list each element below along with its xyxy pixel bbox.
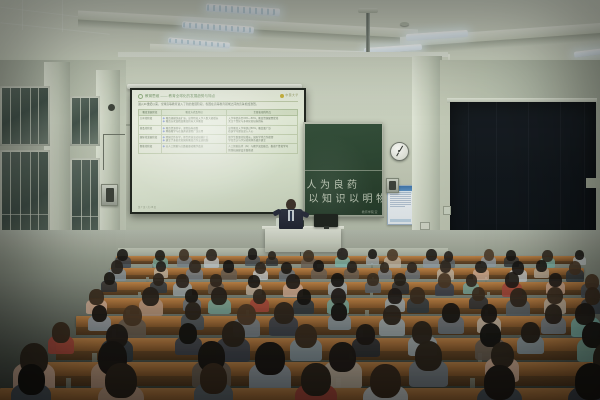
speaker-cone-icon bbox=[389, 181, 396, 190]
screen-glare bbox=[132, 90, 304, 212]
audience-member-head bbox=[18, 364, 46, 395]
smoke-detector-icon bbox=[400, 22, 409, 26]
audience-member-head bbox=[394, 273, 406, 287]
audience-member-head bbox=[223, 260, 234, 273]
chalk-dust bbox=[305, 124, 382, 217]
blackboard-surface: 人 为 良 药 以 知 识 以 明 物 教育学院 宣 bbox=[305, 124, 382, 217]
audience-member-head bbox=[547, 287, 563, 305]
audience-member-head bbox=[491, 342, 514, 368]
audience-member-head bbox=[189, 260, 201, 273]
audience-member-head bbox=[253, 289, 266, 304]
audience-member-head bbox=[521, 322, 540, 343]
audience-member-head bbox=[255, 342, 284, 375]
poster-text-line bbox=[390, 204, 411, 205]
audience-member-head bbox=[481, 304, 498, 323]
audience-member-head bbox=[569, 261, 581, 275]
audience-member-head bbox=[297, 289, 311, 305]
audience-member-head bbox=[89, 289, 103, 305]
audience-member-head bbox=[484, 249, 494, 261]
clock-hour-hand bbox=[396, 151, 399, 155]
projection-screen-surface: 教育思维 —— 教育全球化的发展趋势与特点 中 国 大 学 进入21世纪以来，全… bbox=[132, 90, 304, 212]
wall-outlet bbox=[420, 222, 430, 230]
audience-member-head bbox=[545, 304, 562, 324]
wall-upper-band bbox=[118, 52, 448, 57]
audience-member-head bbox=[438, 273, 451, 288]
audience-member-head bbox=[255, 262, 266, 274]
wall-clock bbox=[390, 142, 409, 161]
audience-member-head bbox=[337, 248, 348, 260]
blackout-curtain[interactable] bbox=[450, 102, 596, 250]
window bbox=[70, 96, 100, 146]
audience-member-head bbox=[510, 288, 527, 307]
audience-member-head bbox=[211, 287, 227, 305]
audience-member-head bbox=[104, 272, 115, 285]
audience-member-head bbox=[472, 287, 485, 302]
audience-member-head bbox=[185, 289, 198, 303]
audience-member-head bbox=[237, 304, 256, 325]
right-wall-outlet bbox=[443, 206, 451, 215]
audience-member-head bbox=[383, 305, 401, 325]
audience-member-head bbox=[142, 287, 159, 306]
audience-member-head bbox=[388, 288, 402, 304]
audience-member-head bbox=[505, 272, 519, 288]
wall-speaker bbox=[386, 178, 399, 193]
monitor-stand bbox=[324, 226, 329, 229]
poster-text-line bbox=[390, 196, 411, 197]
speaker-bracket bbox=[108, 104, 115, 111]
audience-member-head bbox=[303, 250, 314, 262]
audience-member-head bbox=[575, 363, 600, 399]
audience-member-head bbox=[281, 262, 292, 275]
wall-speaker bbox=[101, 184, 118, 206]
audience-member-head bbox=[156, 261, 166, 272]
ceiling-tile-seam bbox=[22, 0, 23, 30]
poster-text-line bbox=[390, 206, 405, 207]
audience-member-head bbox=[179, 249, 190, 261]
audience-member-head bbox=[111, 260, 123, 274]
bench-desk[interactable] bbox=[56, 338, 596, 351]
window bbox=[0, 86, 50, 146]
audience-member-head bbox=[313, 260, 324, 272]
audience-member-head bbox=[410, 287, 425, 304]
audience-member-head bbox=[506, 250, 516, 261]
ceiling-tile-seam bbox=[62, 0, 63, 32]
audience-member-head bbox=[442, 303, 460, 323]
wall-conduit bbox=[103, 134, 125, 135]
projection-screen[interactable]: 教育思维 —— 教育全球化的发展趋势与特点 中 国 大 学 进入21世纪以来，全… bbox=[130, 88, 306, 214]
audience-member-head bbox=[329, 342, 356, 372]
poster-footer-band bbox=[390, 219, 411, 222]
audience-member-head bbox=[176, 274, 189, 288]
audience-member-head bbox=[475, 261, 486, 274]
audience-member-head bbox=[370, 364, 400, 398]
audience-member-head bbox=[407, 262, 417, 273]
audience-member-head bbox=[331, 273, 344, 288]
poster-text-line bbox=[390, 194, 411, 195]
poster-text-line bbox=[390, 198, 411, 199]
audience-member-head bbox=[274, 302, 294, 325]
audience-member-head bbox=[585, 287, 600, 305]
audience-member-head bbox=[248, 275, 259, 288]
lecture-podium[interactable] bbox=[265, 228, 341, 252]
speaker-cone-icon bbox=[106, 188, 114, 202]
audience-member-head bbox=[179, 323, 198, 344]
presenter-tie bbox=[290, 211, 292, 221]
window-glass bbox=[2, 88, 48, 144]
audience-member-head bbox=[331, 303, 347, 321]
poster-text-line bbox=[390, 200, 411, 201]
projector-ceiling-plate bbox=[358, 8, 378, 13]
audience-member-head bbox=[484, 365, 515, 400]
audience-member-head bbox=[92, 305, 107, 322]
audience-member-head bbox=[210, 274, 221, 287]
audience-member-head bbox=[206, 249, 217, 261]
audience-member-head bbox=[387, 249, 398, 262]
audience-member-head bbox=[123, 305, 142, 327]
audience-member-head bbox=[222, 321, 246, 347]
audience-member-head bbox=[368, 249, 377, 259]
audience-member-head bbox=[105, 363, 137, 399]
audience-member-head bbox=[185, 302, 201, 320]
audience-member-head bbox=[200, 363, 227, 394]
audience-member-head bbox=[367, 273, 378, 286]
blackboard: 人 为 良 药 以 知 识 以 明 物 教育学院 宣 bbox=[303, 122, 383, 218]
audience-member-head bbox=[286, 274, 299, 289]
audience-member-head bbox=[248, 248, 258, 259]
audience-member-head bbox=[52, 322, 70, 342]
window-glass bbox=[72, 98, 98, 144]
audience-member-head bbox=[549, 273, 562, 287]
audience-member-head bbox=[536, 260, 547, 272]
audience-member-head bbox=[582, 322, 600, 348]
audience-member-head bbox=[356, 324, 375, 345]
right-wall-panel bbox=[586, 178, 600, 188]
audience-member-head bbox=[347, 261, 357, 273]
chalk-tray bbox=[300, 215, 384, 218]
wall-conduit bbox=[103, 134, 104, 170]
lecture-hall-photo: 教育思维 —— 教育全球化的发展趋势与特点 中 国 大 学 进入21世纪以来，全… bbox=[0, 0, 600, 400]
audience-member-head bbox=[301, 363, 331, 396]
poster-text-line bbox=[390, 202, 411, 203]
audience-member-head bbox=[426, 249, 437, 261]
audience-member-head bbox=[415, 341, 442, 371]
audience-member-head bbox=[466, 274, 477, 287]
bench-desk-front bbox=[56, 351, 596, 360]
audience-member-head bbox=[295, 324, 317, 348]
audience-member-head bbox=[153, 273, 164, 286]
audience-member-head bbox=[575, 250, 584, 260]
